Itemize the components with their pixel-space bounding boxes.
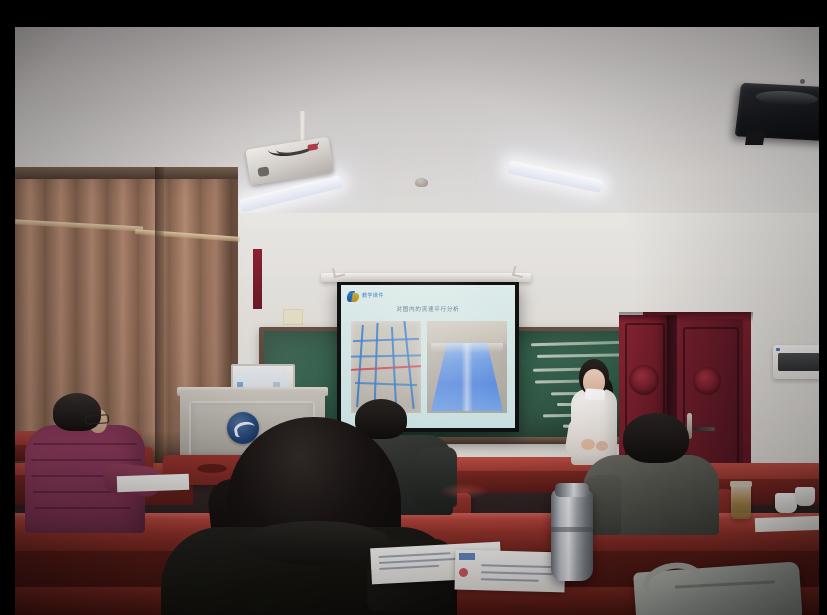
desk-surface-scuff: [439, 483, 489, 499]
thermos-band: [551, 527, 593, 532]
projection-screen-roller: [321, 273, 531, 282]
attendee-front-collar: [241, 521, 391, 565]
electrical-panel-window: [778, 353, 819, 371]
photograph-classroom-lecture: 教学课件 对图内的流速平行分析: [0, 0, 827, 615]
scene-root: 教学课件 对图内的流速平行分析: [15, 27, 819, 615]
door-medallion-left: [629, 365, 659, 395]
speaker-highlight: [755, 89, 819, 106]
door-top-shadow: [619, 312, 753, 322]
speaker-screw: [800, 79, 805, 84]
attendee-right-hair: [623, 413, 689, 463]
wall-notice: [283, 309, 303, 325]
paper-cup-b: [795, 487, 815, 506]
chair-handle-slot: [197, 464, 227, 473]
attendee-left-hair: [53, 393, 101, 431]
eyeglasses-icon: [85, 414, 110, 425]
wall-pillar-strip: [253, 249, 262, 309]
slide-perspective-panel: [427, 321, 507, 413]
slide-logo-text: 教学课件: [362, 292, 384, 299]
presenter-hand: [581, 439, 595, 450]
tea-jar-lid: [730, 481, 752, 487]
letterbox-left: [0, 0, 15, 615]
slide-title: 对图内的流速平行分析: [341, 305, 515, 313]
door-lock-plate[interactable]: [693, 427, 715, 431]
letterbox-top: [0, 0, 827, 27]
loose-paper-right-desk: [755, 516, 819, 532]
curtain-rail: [15, 167, 238, 179]
door-medallion-right: [693, 367, 721, 395]
slide-channel-centerline: [431, 343, 503, 411]
thermos-flask: [551, 489, 593, 581]
presenter-hand-secondary: [596, 441, 608, 451]
letterbox-right: [819, 0, 827, 615]
papers-on-left-desk: [117, 474, 190, 493]
thermos-lid: [555, 483, 589, 497]
slide-logo-shape-gold: [351, 293, 360, 302]
electrical-panel-label: [776, 348, 780, 351]
tea-jar: [731, 485, 751, 519]
curtain-fold-gap: [155, 167, 164, 463]
speaker-bracket: [745, 131, 765, 145]
slide-horizon-haze: [431, 343, 503, 353]
projector-lens-icon: [257, 166, 269, 177]
paper-red-stamp: [459, 568, 468, 577]
slide-logo-icon: [347, 291, 360, 302]
paper-index-tab: [459, 553, 475, 560]
paper-cup-a: [775, 493, 797, 513]
presenter-collar: [585, 388, 606, 400]
smoke-detector-icon: [415, 178, 428, 187]
